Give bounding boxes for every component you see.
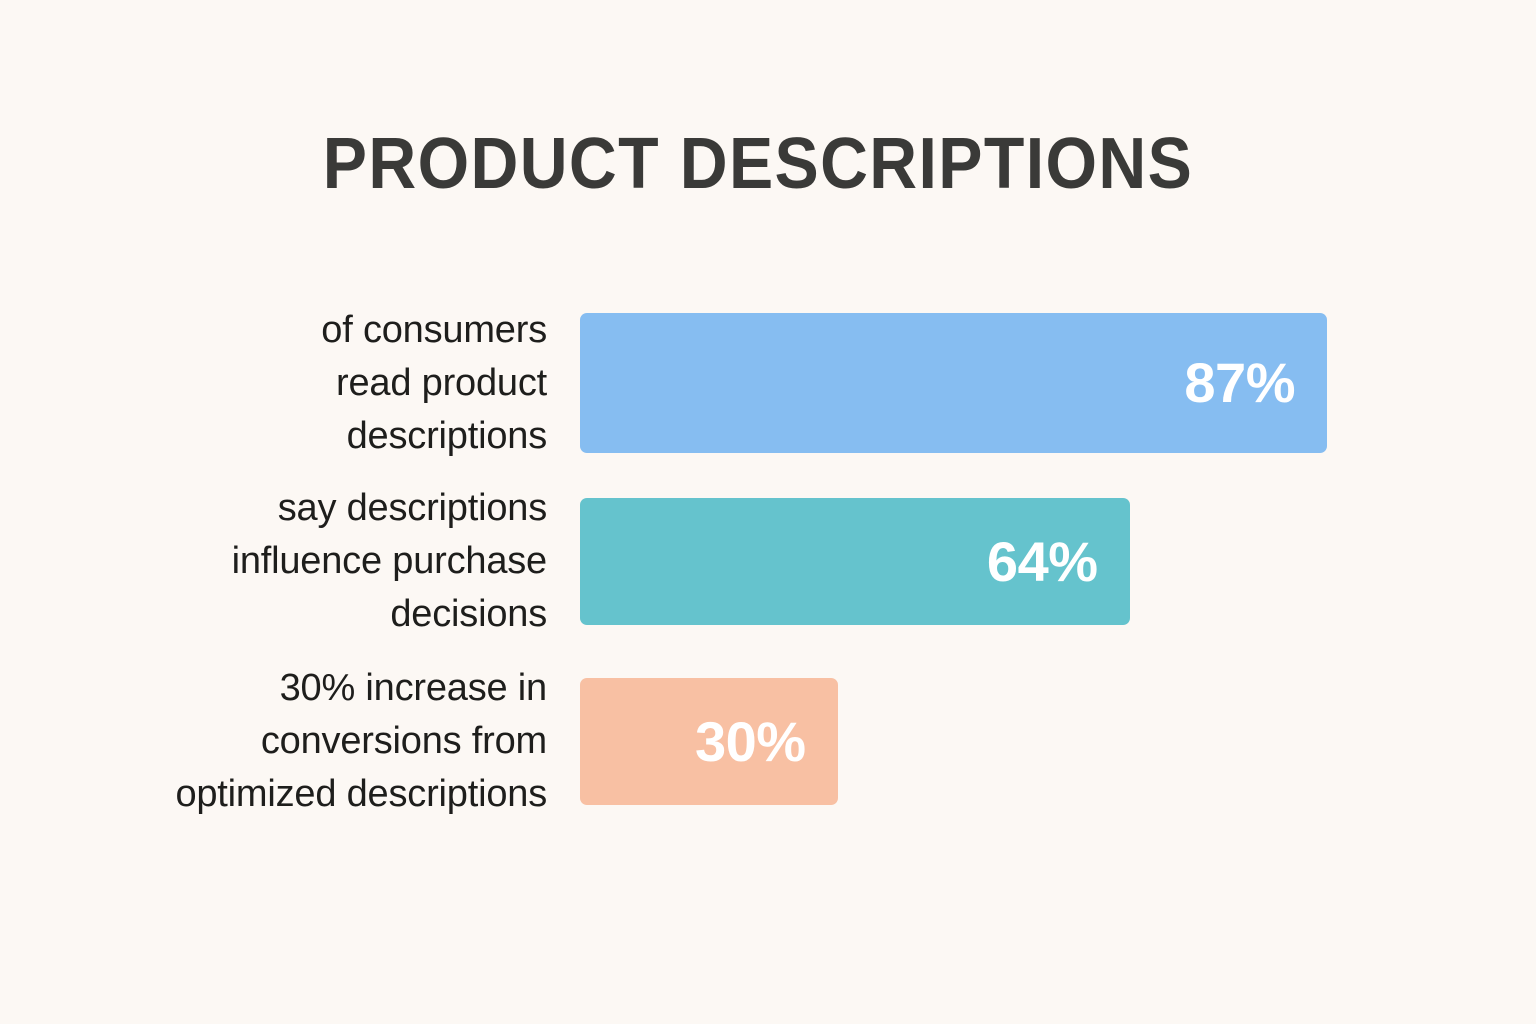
- bar-category-label-line: of consumers: [0, 304, 547, 357]
- bar-category-label-line: descriptions: [0, 410, 547, 463]
- bar-segment: 87%: [580, 313, 1327, 453]
- bar-segment: 30%: [580, 678, 838, 805]
- bar-category-label: 30% increase in conversions from optimiz…: [0, 662, 547, 821]
- bar-chart: of consumers read product descriptions 8…: [0, 300, 1536, 840]
- bar-category-label-line: say descriptions: [0, 482, 547, 535]
- bar-value-label: 30%: [695, 714, 838, 770]
- bar-row: of consumers read product descriptions 8…: [0, 313, 1536, 453]
- bar-segment: 64%: [580, 498, 1130, 625]
- bar-category-label-line: decisions: [0, 588, 547, 641]
- bar-track: 30%: [580, 678, 838, 805]
- bar-value-label: 87%: [1184, 355, 1327, 411]
- bar-category-label-line: conversions from: [0, 715, 547, 768]
- bar-row: say descriptions influence purchase deci…: [0, 498, 1536, 625]
- bar-category-label: of consumers read product descriptions: [0, 304, 547, 463]
- bar-category-label-line: 30% increase in: [0, 662, 547, 715]
- bar-category-label-line: read product: [0, 357, 547, 410]
- bar-track: 64%: [580, 498, 1130, 625]
- bar-value-label: 64%: [987, 534, 1130, 590]
- bar-category-label: say descriptions influence purchase deci…: [0, 482, 547, 641]
- bar-category-label-line: influence purchase: [0, 535, 547, 588]
- infographic-canvas: PRODUCT DESCRIPTIONS of consumers read p…: [0, 0, 1536, 1024]
- bar-track: 87%: [580, 313, 1327, 453]
- bar-category-label-line: optimized descriptions: [0, 768, 547, 821]
- page-title: PRODUCT DESCRIPTIONS: [61, 128, 1456, 200]
- bar-row: 30% increase in conversions from optimiz…: [0, 678, 1536, 805]
